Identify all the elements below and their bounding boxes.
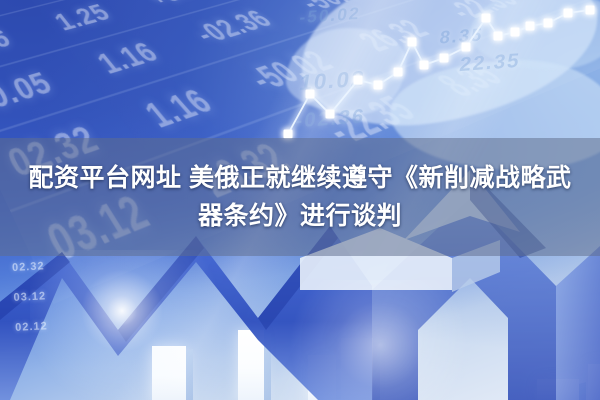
faint-number: 03.12: [13, 284, 163, 304]
headline-line-1: 配资平台网址 美俄正就继续遵守《新削减战略武: [29, 162, 572, 194]
banner-image: -0.05+2.26-0.33+0.35-2.1545.02-0.05+2.26…: [0, 0, 600, 400]
light-burst-secondary: [250, 280, 510, 400]
faint-number: 02.12: [15, 314, 165, 334]
headline: 配资平台网址 美俄正就继续遵守《新削减战略武 器条约》进行谈判: [0, 138, 600, 256]
faint-number-labels: 02.3203.1202.12: [12, 254, 167, 352]
headline-line-2: 器条约》进行谈判: [198, 200, 402, 232]
